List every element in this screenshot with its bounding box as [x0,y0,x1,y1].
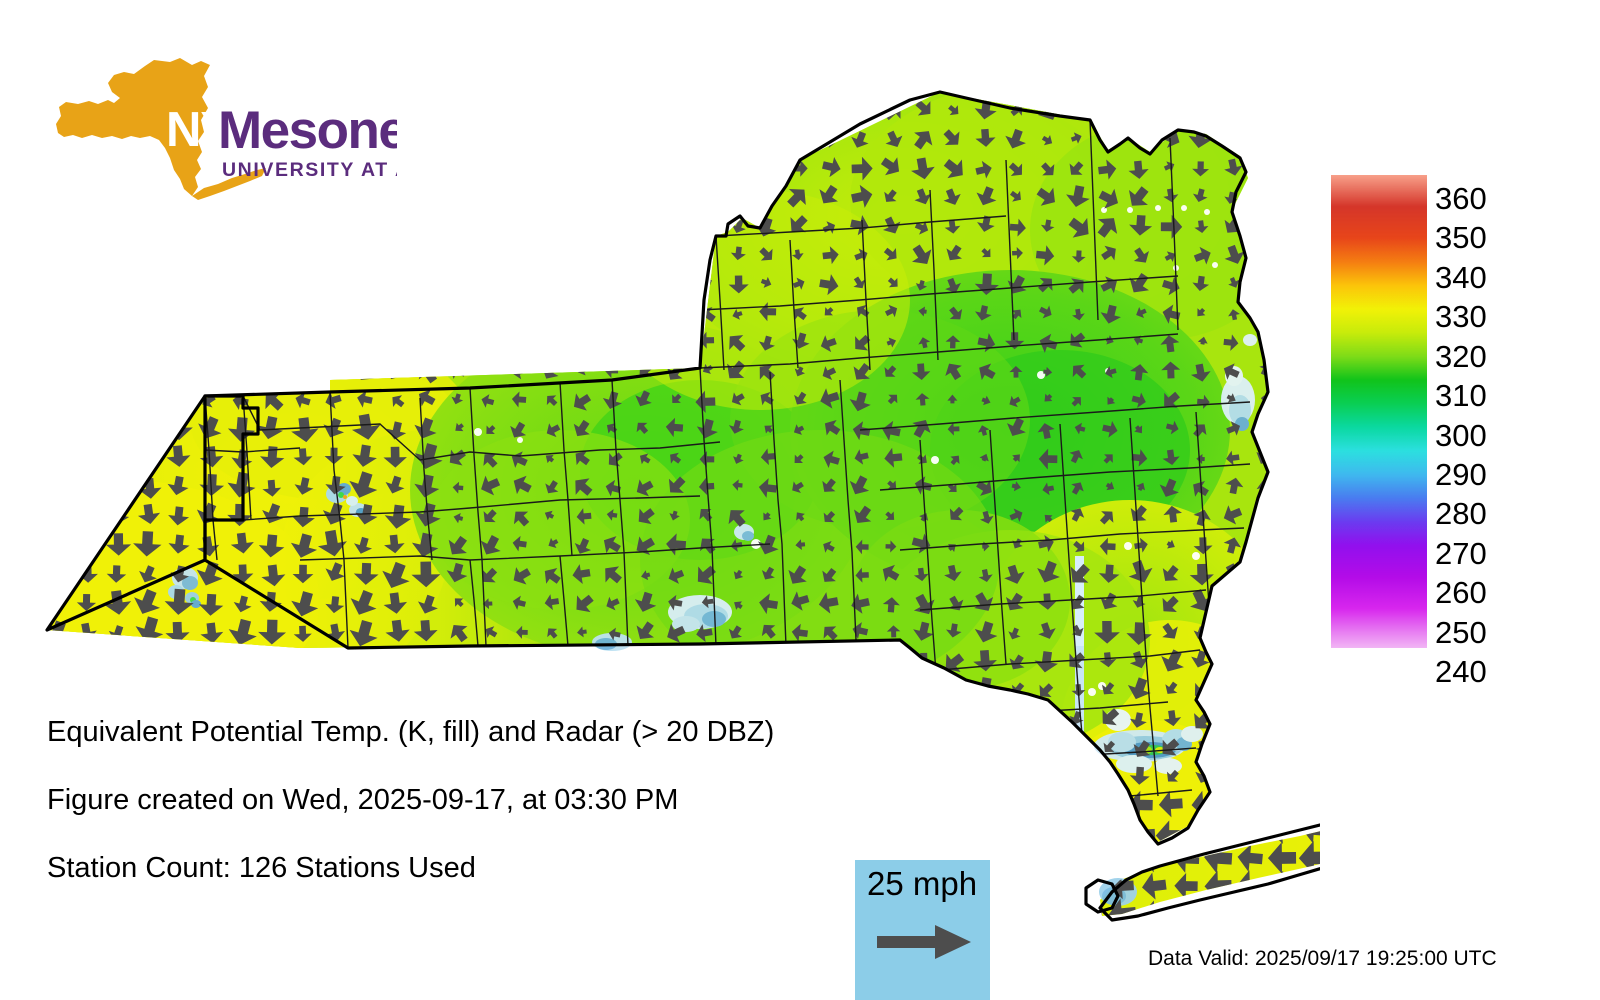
colorbar-group: 360350340330320310300290280270260250240 [1331,175,1581,655]
wind-arrow [1250,212,1280,240]
wind-arrow [196,271,222,294]
wind-arrow [416,100,437,120]
wind-arrow [172,333,186,348]
wind-arrow [540,157,565,183]
wind-arrow [289,820,314,848]
wind-arrow [1102,130,1118,146]
wind-arrow [1100,769,1117,785]
wind-arrow [40,501,72,531]
wind-arrow [47,216,63,233]
wind-arrow [1219,791,1247,823]
wind-arrow [1248,673,1280,703]
wind-arrow [878,823,904,851]
wind-arrow [690,876,720,909]
wind-arrow [263,190,280,208]
wind-arrow [44,448,67,469]
wind-arrow [39,673,74,706]
wind-arrow [1250,732,1279,760]
wind-arrow [451,218,467,233]
wind-arrow [793,711,808,726]
wind-arrow [265,103,279,116]
wind-arrow [169,303,188,324]
wind-arrow [385,160,404,177]
wind-arrow [1258,537,1272,552]
wind-arrow [886,714,898,727]
wind-arrow [354,329,375,352]
wind-arrow [225,184,255,213]
wind-arrow [322,125,347,151]
wind-arrow [388,218,401,232]
wind-arrow [71,907,97,936]
wind-arrow [1248,903,1282,941]
wind-arrow [232,678,253,698]
wind-arrow [198,157,219,177]
wind-arrow [327,337,339,350]
wind-arrow [603,275,625,295]
wind-arrow [510,158,532,181]
wind-arrow [601,680,626,705]
wind-arrow [136,327,163,355]
wind-arrow [1252,187,1273,211]
wind-arrow [1217,762,1249,793]
wind-arrow [503,240,534,271]
wind-arrow [449,99,467,116]
wind-arrow [817,96,843,121]
wind-arrow [42,330,64,353]
wind-arrow [505,820,531,848]
caption-station-count: Station Count: 126 Stations Used [47,854,476,883]
wind-arrow [755,155,778,179]
colorbar-tick-330: 330 [1435,301,1487,332]
wind-arrow [293,678,316,699]
wind-arrow [600,242,627,268]
wind-arrow-icon [877,922,973,962]
wind-arrow [483,655,496,669]
wind-arrow [1255,623,1273,640]
wind-arrow [661,299,687,324]
wind-arrow [665,127,689,153]
wind-arrow [726,156,748,179]
wind-arrow [660,214,687,239]
colorbar-tick-350: 350 [1435,222,1487,253]
wind-arrow [1235,897,1265,931]
wind-arrow [663,329,684,351]
colorbar-tick-320: 320 [1435,341,1487,372]
wind-arrow [354,242,378,268]
wind-arrow [483,305,499,321]
wind-arrow [264,360,282,378]
wind-arrow [110,335,123,350]
wind-arrow [1300,871,1320,901]
wind-arrow [759,681,780,703]
wind-arrow [635,334,651,350]
wind-arrow [690,820,720,853]
wind-arrow [417,302,439,325]
wind-arrow [295,246,311,263]
wind-arrow [570,213,592,237]
wind-arrow [350,213,376,238]
wind-arrow [388,248,407,265]
wind-arrow [353,158,377,182]
wind-arrow [1217,907,1245,938]
wind-arrow [198,184,220,206]
wind-arrow [293,159,309,177]
wind-arrow [354,678,377,699]
wind-arrow [752,761,781,791]
wind-arrow [564,877,596,912]
wind-arrow [814,874,846,909]
wind-arrow [596,872,631,910]
wind-arrow [1203,813,1233,847]
wind-arrow [138,245,158,265]
wind-arrow [631,877,657,906]
wind-arrow [511,331,532,354]
wind-arrow [330,309,339,320]
wind-arrow [600,212,629,241]
wind-arrow [351,818,379,850]
wind-arrow [971,819,1002,853]
wind-arrow [606,653,621,669]
colorbar-tick-300: 300 [1435,420,1487,451]
wind-arrow [440,905,473,941]
wind-arrow [422,135,435,147]
wind-arrow [475,155,502,182]
wind-arrow [632,244,658,269]
wind-arrow [76,333,97,354]
wind-arrow [1001,791,1029,822]
wind-arrow [1221,648,1247,673]
wind-arrow [320,356,348,384]
wind-arrow [452,159,468,175]
wind-arrow [167,96,193,123]
wind-arrow [417,190,434,205]
wind-arrow [978,713,993,726]
wind-arrow [724,905,751,935]
wind-arrow [1220,705,1248,730]
wind-arrow [382,821,407,849]
wind-arrow [420,277,435,290]
wind-arrow [1032,735,1058,761]
wind-arrow [1107,841,1137,875]
wind-arrow [1247,787,1279,822]
wind-arrow [634,130,654,151]
wind-arrow [258,820,286,852]
wind-arrow [199,362,218,383]
wind-arrow [319,242,347,271]
wind-arrow [569,245,594,267]
wind-arrow [44,160,61,177]
wind-arrow [697,187,715,204]
wind-arrow [263,275,282,296]
wind-arrow [354,98,377,123]
wind-arrow [46,766,66,784]
wind-arrow [450,335,464,348]
wind-arrow [881,679,899,698]
wind-arrow [786,651,807,673]
wind-arrow [197,211,226,240]
wind-arrow [415,822,440,850]
wind-arrow [822,708,840,727]
wind-arrow [137,359,158,380]
wind-arrow [540,185,560,205]
wind-arrow [264,218,278,233]
wind-arrow [510,649,531,671]
wind-arrow [941,706,969,732]
wind-arrow [823,738,840,755]
wind-arrow [542,652,561,671]
wind-arrow [576,655,591,670]
wind-arrow [294,103,309,119]
wind-arrow [885,772,898,786]
wind-arrow [1222,677,1246,700]
wind-arrow [755,852,779,879]
wind-arrow [660,878,689,911]
wind-arrow [1300,898,1320,929]
wind-arrow [630,909,655,937]
wind-arrow [539,851,565,880]
wind-arrow [912,680,937,703]
wind-arrow [49,190,65,205]
wind-arrow [319,907,348,939]
wind-arrow [695,908,718,934]
wind-arrow [133,124,165,156]
wind-arrow [849,824,872,850]
wind-arrow [1259,509,1270,521]
wind-arrow [1003,909,1026,935]
wind-arrow [351,648,379,674]
wind-arrow [697,654,712,670]
wind-arrow [416,683,435,700]
wind-arrow [353,302,374,324]
wind-arrow [912,706,939,733]
wind-arrow [792,740,804,752]
wind-arrow [1031,874,1064,910]
wind-arrow [417,156,438,177]
wind-arrow [172,395,186,409]
wind-arrow [1033,790,1062,823]
wind-arrow [450,649,468,669]
wind-arrow [258,680,285,704]
wind-arrow [198,675,226,701]
wind-arrow [667,247,682,262]
wind-arrow [39,299,67,328]
wind-arrow [44,128,68,153]
wind-arrow [631,849,660,880]
wind-arrow [327,277,339,291]
colorbar-tick-360: 360 [1435,183,1487,214]
wind-arrow [1254,768,1277,789]
wind-arrow [194,328,223,357]
wind-arrow [416,907,440,934]
wind-arrow [631,298,658,326]
wind-arrow [224,122,256,154]
wind-arrow [136,215,157,238]
wind-arrow [67,415,100,446]
wind-arrow [603,183,626,207]
wind-arrow [1003,735,1029,759]
wind-legend-label: 25 mph [867,867,977,900]
wind-arrow [136,388,162,414]
wind-arrow [818,792,844,821]
wind-arrow [575,681,593,699]
wind-arrow [107,681,130,702]
caption-title: Equivalent Potential Temp. (K, fill) and… [47,718,774,747]
colorbar-tick-310: 310 [1435,380,1487,411]
wind-arrow [542,131,558,146]
wind-arrow [659,846,692,882]
wind-arrow [109,305,121,318]
wind-arrow [722,791,749,820]
wind-arrow [755,822,778,848]
wind-arrow [1189,819,1217,850]
wind-arrow [108,360,126,379]
wind-arrow [605,97,625,120]
colorbar-tick-270: 270 [1435,538,1487,569]
wind-arrow [754,126,777,148]
wind-arrow [660,903,690,937]
wind-arrow [1076,843,1104,874]
wind-arrow [628,818,662,855]
wind-arrow [163,820,192,852]
wind-arrow [74,358,99,383]
wind-arrow [1064,849,1089,877]
wind-arrow [910,766,935,789]
wind-arrow [874,785,910,824]
wind-arrow [1062,907,1091,938]
wind-arrow [320,98,347,123]
wind-arrow [1097,851,1122,879]
wind-arrow [940,821,969,853]
wind-arrow [638,164,650,175]
wind-arrow [574,190,589,206]
wind-arrow [167,881,190,907]
wind-arrow [382,908,407,935]
wind-arrow [473,878,503,911]
wind-arrow [660,268,689,298]
wind-arrow [1224,739,1245,760]
wind-arrow [162,647,194,676]
wind-arrow [823,653,840,670]
wind-arrow [325,679,346,697]
wind-arrow [815,904,845,937]
caption-created: Figure created on Wed, 2025-09-17, at 03… [47,786,678,815]
wind-arrow [1265,896,1299,933]
wind-arrow [607,132,623,147]
colorbar-tick-240: 240 [1435,656,1487,687]
wind-arrow [695,852,720,880]
wind-arrow [600,845,630,878]
wind-arrow [760,653,774,668]
wind-arrow [1250,241,1275,265]
wind-arrow [510,130,528,150]
wind-arrow [504,905,537,941]
wind-arrow [78,248,95,266]
wind-arrow [536,816,566,849]
wind-arrow [789,126,809,148]
wind-arrow [753,877,779,906]
wind-arrow [823,683,839,699]
wind-arrow [1002,764,1031,792]
wind-arrow [391,337,404,351]
wind-arrow [1030,817,1061,851]
wind-arrow [169,360,189,380]
wind-arrow [1220,618,1248,646]
wind-arrow [537,213,562,238]
wind-arrow [195,820,222,850]
wind-arrow [46,650,67,669]
wind-arrow [849,675,877,703]
wind-arrow [196,124,224,151]
wind-arrow [1095,816,1126,850]
colorbar-tick-340: 340 [1435,262,1487,293]
wind-arrow [508,185,533,211]
wind-arrow [1247,585,1279,617]
wind-arrow [632,184,655,206]
wind-arrow [290,298,316,325]
wind-arrow [752,788,783,823]
wind-arrow [718,874,754,913]
wind-arrow [1205,899,1232,929]
wind-arrow [783,847,812,880]
wind-arrow [969,761,1002,793]
wind-arrow [939,762,968,791]
wind-arrow [975,794,997,819]
wind-arrow [46,366,59,380]
wind-arrow [1074,813,1105,848]
wind-arrow [511,303,531,323]
wind-arrow [140,305,156,321]
wind-arrow [479,276,495,293]
wind-arrow [724,818,753,851]
wind-arrow [71,183,99,209]
wind-arrow [134,269,161,296]
wind-arrow [41,473,67,497]
wind-arrow [44,561,70,585]
wind-arrow [658,816,690,851]
wind-arrow [545,307,558,321]
wind-arrow [72,676,104,705]
wind-arrow [574,160,593,178]
wind-arrow [474,904,507,940]
wind-arrow [107,187,126,205]
wind-arrow [540,247,559,266]
wind-arrow [98,442,131,474]
wind-arrow [105,820,129,847]
wind-arrow [847,733,875,761]
wind-arrow [784,905,811,936]
wind-arrow [948,681,964,696]
wind-arrow [574,103,591,119]
wind-arrow [1032,762,1063,791]
wind-arrow [73,504,97,526]
wind-arrow [444,819,470,848]
wind-arrow [534,873,568,910]
wind-arrow [813,846,844,880]
wind-arrow [635,680,657,702]
wind-arrow [698,770,713,784]
wind-arrow [42,273,65,296]
wind-arrow [780,817,815,855]
wind-arrow [476,184,501,207]
wind-arrow [325,159,342,176]
wind-arrow [449,306,464,323]
wind-arrow [785,876,814,909]
wind-arrow [110,392,124,407]
wind-arrow [479,101,498,118]
wind-arrow [570,329,592,353]
wind-arrow [1097,793,1123,822]
wind-arrow [480,218,499,238]
